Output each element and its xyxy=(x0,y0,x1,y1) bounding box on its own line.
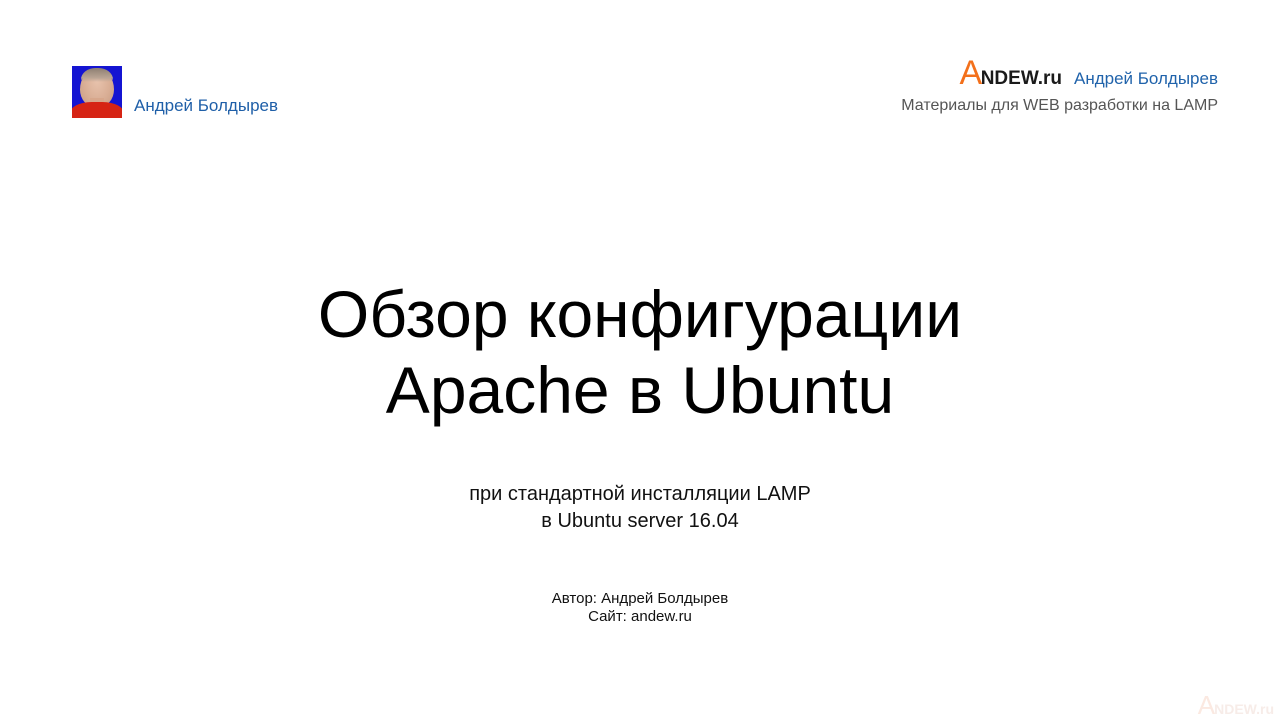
subtitle-line-1: при стандартной инсталляции LAMP xyxy=(0,481,1280,508)
brand-person-name: Андрей Болдырев xyxy=(1074,69,1218,89)
brand-block: A NDEW.ru Андрей Болдырев Материалы для … xyxy=(901,58,1218,115)
avatar-shirt-shape xyxy=(72,102,122,118)
subtitle-line-2: в Ubuntu server 16.04 xyxy=(0,508,1280,535)
brand-logo-line: A NDEW.ru Андрей Болдырев xyxy=(901,58,1218,90)
page-title: Обзор конфигурации Apache в Ubuntu xyxy=(0,276,1280,428)
credit-site: Сайт: andew.ru xyxy=(0,608,1280,626)
slide-canvas: Андрей Болдырев A NDEW.ru Андрей Болдыре… xyxy=(0,0,1280,720)
watermark-text: NDEW.ru xyxy=(1214,701,1274,717)
credits-block: Автор: Андрей Болдырев Сайт: andew.ru xyxy=(0,590,1280,626)
title-line-1: Обзор конфигурации xyxy=(0,276,1280,352)
brand-logo-initial-icon: A xyxy=(960,58,982,89)
watermark-initial-icon: A xyxy=(1198,692,1215,718)
author-block: Андрей Болдырев xyxy=(72,66,278,118)
brand-logo-text: NDEW.ru xyxy=(981,68,1062,90)
author-name: Андрей Болдырев xyxy=(134,97,278,118)
credit-author: Автор: Андрей Болдырев xyxy=(0,590,1280,608)
page-subtitle: при стандартной инсталляции LAMP в Ubunt… xyxy=(0,481,1280,535)
title-line-2: Apache в Ubuntu xyxy=(0,352,1280,428)
avatar-hair-shape xyxy=(81,68,113,82)
watermark: A NDEW.ru xyxy=(1198,692,1274,718)
avatar xyxy=(72,66,122,118)
brand-tagline: Материалы для WEB разработки на LAMP xyxy=(901,97,1218,115)
